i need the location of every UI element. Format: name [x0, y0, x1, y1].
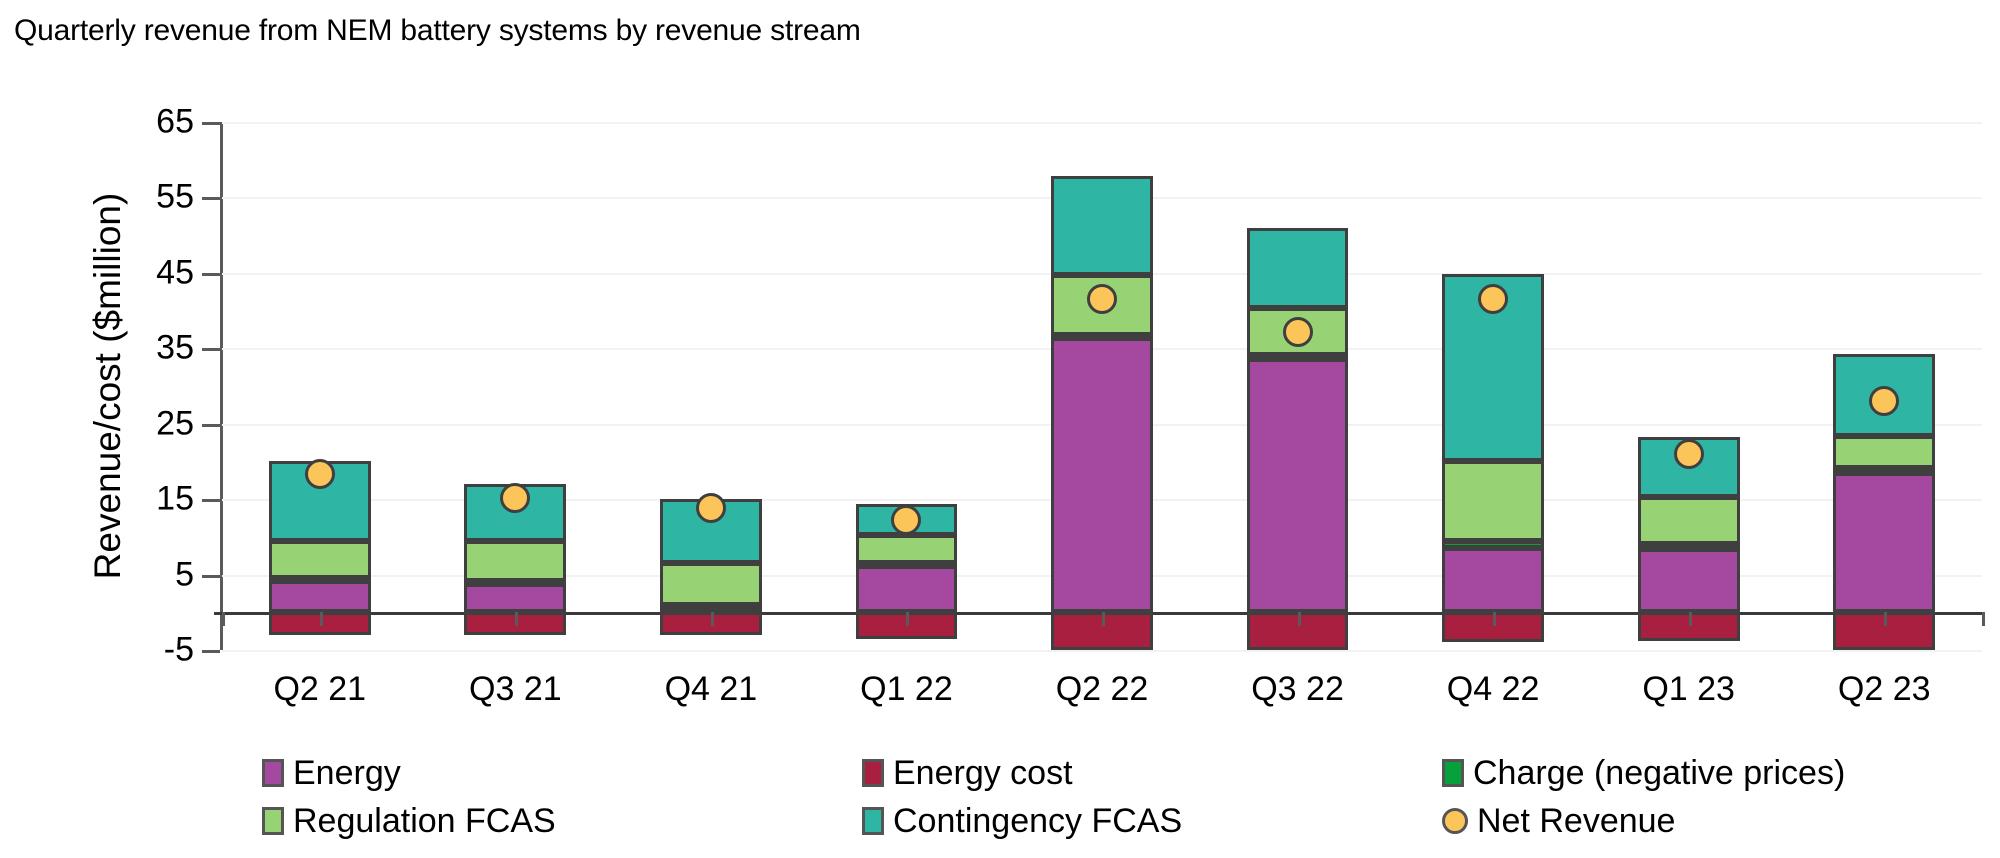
y-axis-tick: [202, 650, 220, 653]
bar-segment-charge[interactable]: [1833, 468, 1935, 474]
bar-segment-charge[interactable]: [464, 581, 566, 587]
net-revenue-marker[interactable]: [696, 493, 726, 523]
y-axis-tick-label: 35: [156, 329, 194, 368]
legend-swatch-icon: [862, 759, 884, 787]
bar-group[interactable]: [660, 122, 762, 650]
bar-segment-reg[interactable]: [1833, 436, 1935, 468]
chart-root: Quarterly revenue from NEM battery syste…: [0, 0, 2000, 858]
x-axis-tick: [515, 612, 518, 626]
gridline: [222, 650, 1982, 652]
y-axis-tick-label: 55: [156, 178, 194, 217]
bar-segment-reg[interactable]: [269, 541, 371, 578]
x-axis-tick: [1102, 612, 1105, 626]
bar-segment-charge[interactable]: [1442, 541, 1544, 549]
y-axis-tick-label: 45: [156, 253, 194, 292]
bar-segment-charge[interactable]: [269, 578, 371, 584]
bar-segment-energy[interactable]: [856, 564, 958, 612]
y-axis-tick-label: -5: [164, 631, 194, 670]
legend-item-label: Contingency FCAS: [893, 804, 1182, 838]
y-axis-tick-label: 65: [156, 103, 194, 142]
legend-item[interactable]: Contingency FCAS: [862, 804, 1182, 838]
net-revenue-marker[interactable]: [500, 483, 530, 513]
legend-item[interactable]: Energy cost: [862, 756, 1073, 790]
y-axis-tick: [202, 273, 220, 276]
y-axis-tick: [202, 197, 220, 200]
bar-segment-reg[interactable]: [1638, 497, 1740, 544]
y-axis-tick-label: 5: [175, 555, 194, 594]
x-axis-tick-label: Q2 23: [1838, 670, 1931, 709]
bar-segment-energy[interactable]: [1638, 549, 1740, 612]
bar-segment-energy[interactable]: [1051, 337, 1153, 612]
x-axis-tick: [1982, 612, 1985, 626]
net-revenue-marker[interactable]: [1674, 439, 1704, 469]
x-axis-tick-label: Q1 22: [860, 670, 953, 709]
y-axis-tick: [202, 424, 220, 427]
legend-swatch-icon: [1442, 759, 1464, 787]
x-axis-tick: [1493, 612, 1496, 626]
x-axis-tick-label: Q1 23: [1642, 670, 1735, 709]
chart-legend: EnergyEnergy costCharge (negative prices…: [262, 756, 1762, 848]
bar-group[interactable]: [1247, 122, 1349, 650]
x-axis-tick: [711, 612, 714, 626]
y-axis-tick: [202, 499, 220, 502]
y-axis-tick-label: 25: [156, 404, 194, 443]
bar-segment-charge[interactable]: [1247, 355, 1349, 361]
bar-group[interactable]: [269, 122, 371, 650]
y-axis-tick: [202, 122, 220, 125]
bar-segment-reg[interactable]: [464, 541, 566, 582]
y-axis-line: [220, 122, 223, 650]
bar-segment-charge[interactable]: [660, 605, 762, 611]
net-revenue-marker[interactable]: [305, 459, 335, 489]
legend-item[interactable]: Energy: [262, 756, 401, 790]
legend-item[interactable]: Charge (negative prices): [1442, 756, 1845, 790]
bar-segment-charge[interactable]: [1638, 544, 1740, 550]
chart-title: Quarterly revenue from NEM battery syste…: [14, 14, 861, 48]
net-revenue-marker[interactable]: [1283, 317, 1313, 347]
x-axis-tick-label: Q4 22: [1447, 670, 1540, 709]
bar-segment-energy[interactable]: [464, 584, 566, 612]
legend-item-label: Energy cost: [893, 756, 1073, 790]
y-axis-title: Revenue/cost ($million): [87, 126, 129, 646]
bar-segment-reg[interactable]: [660, 563, 762, 605]
y-axis-tick: [202, 575, 220, 578]
bar-segment-charge[interactable]: [856, 563, 958, 569]
x-axis-tick: [1884, 612, 1887, 626]
x-axis-tick: [222, 612, 225, 626]
legend-item[interactable]: Net Revenue: [1442, 804, 1675, 838]
y-axis-tick: [202, 348, 220, 351]
bar-group[interactable]: [856, 122, 958, 650]
x-axis-tick-label: Q2 21: [273, 670, 366, 709]
x-axis-tick-label: Q4 21: [665, 670, 758, 709]
x-axis-tick: [1689, 612, 1692, 626]
bar-group[interactable]: [1442, 122, 1544, 650]
legend-swatch-icon: [262, 759, 284, 787]
bar-group[interactable]: [464, 122, 566, 650]
legend-swatch-icon: [862, 807, 884, 835]
legend-swatch-icon: [262, 807, 284, 835]
x-axis-tick-label: Q2 22: [1056, 670, 1149, 709]
bar-segment-energy[interactable]: [1442, 548, 1544, 612]
bar-group[interactable]: [1833, 122, 1935, 650]
net-revenue-marker[interactable]: [891, 505, 921, 535]
x-axis-tick-label: Q3 22: [1251, 670, 1344, 709]
bar-segment-charge[interactable]: [1051, 335, 1153, 341]
x-axis-tick-label: Q3 21: [469, 670, 562, 709]
legend-item-label: Regulation FCAS: [293, 804, 556, 838]
bar-segment-cont[interactable]: [1247, 228, 1349, 307]
legend-item-label: Charge (negative prices): [1473, 756, 1845, 790]
x-axis-tick: [1298, 612, 1301, 626]
legend-item[interactable]: Regulation FCAS: [262, 804, 556, 838]
plot-area: Revenue/cost ($million) 6555453525155-5: [222, 122, 1982, 650]
bar-segment-energy[interactable]: [1833, 473, 1935, 613]
bar-segment-reg[interactable]: [856, 535, 958, 564]
x-axis-tick: [320, 612, 323, 626]
bar-segment-energy[interactable]: [1247, 359, 1349, 612]
bar-segment-reg[interactable]: [1442, 461, 1544, 540]
y-axis-tick-label: 15: [156, 480, 194, 519]
legend-swatch-icon: [1442, 808, 1468, 834]
legend-item-label: Net Revenue: [1477, 804, 1675, 838]
bar-group[interactable]: [1051, 122, 1153, 650]
legend-item-label: Energy: [293, 756, 401, 790]
x-axis-tick: [906, 612, 909, 626]
bar-segment-cont[interactable]: [1051, 176, 1153, 276]
bar-group[interactable]: [1638, 122, 1740, 650]
